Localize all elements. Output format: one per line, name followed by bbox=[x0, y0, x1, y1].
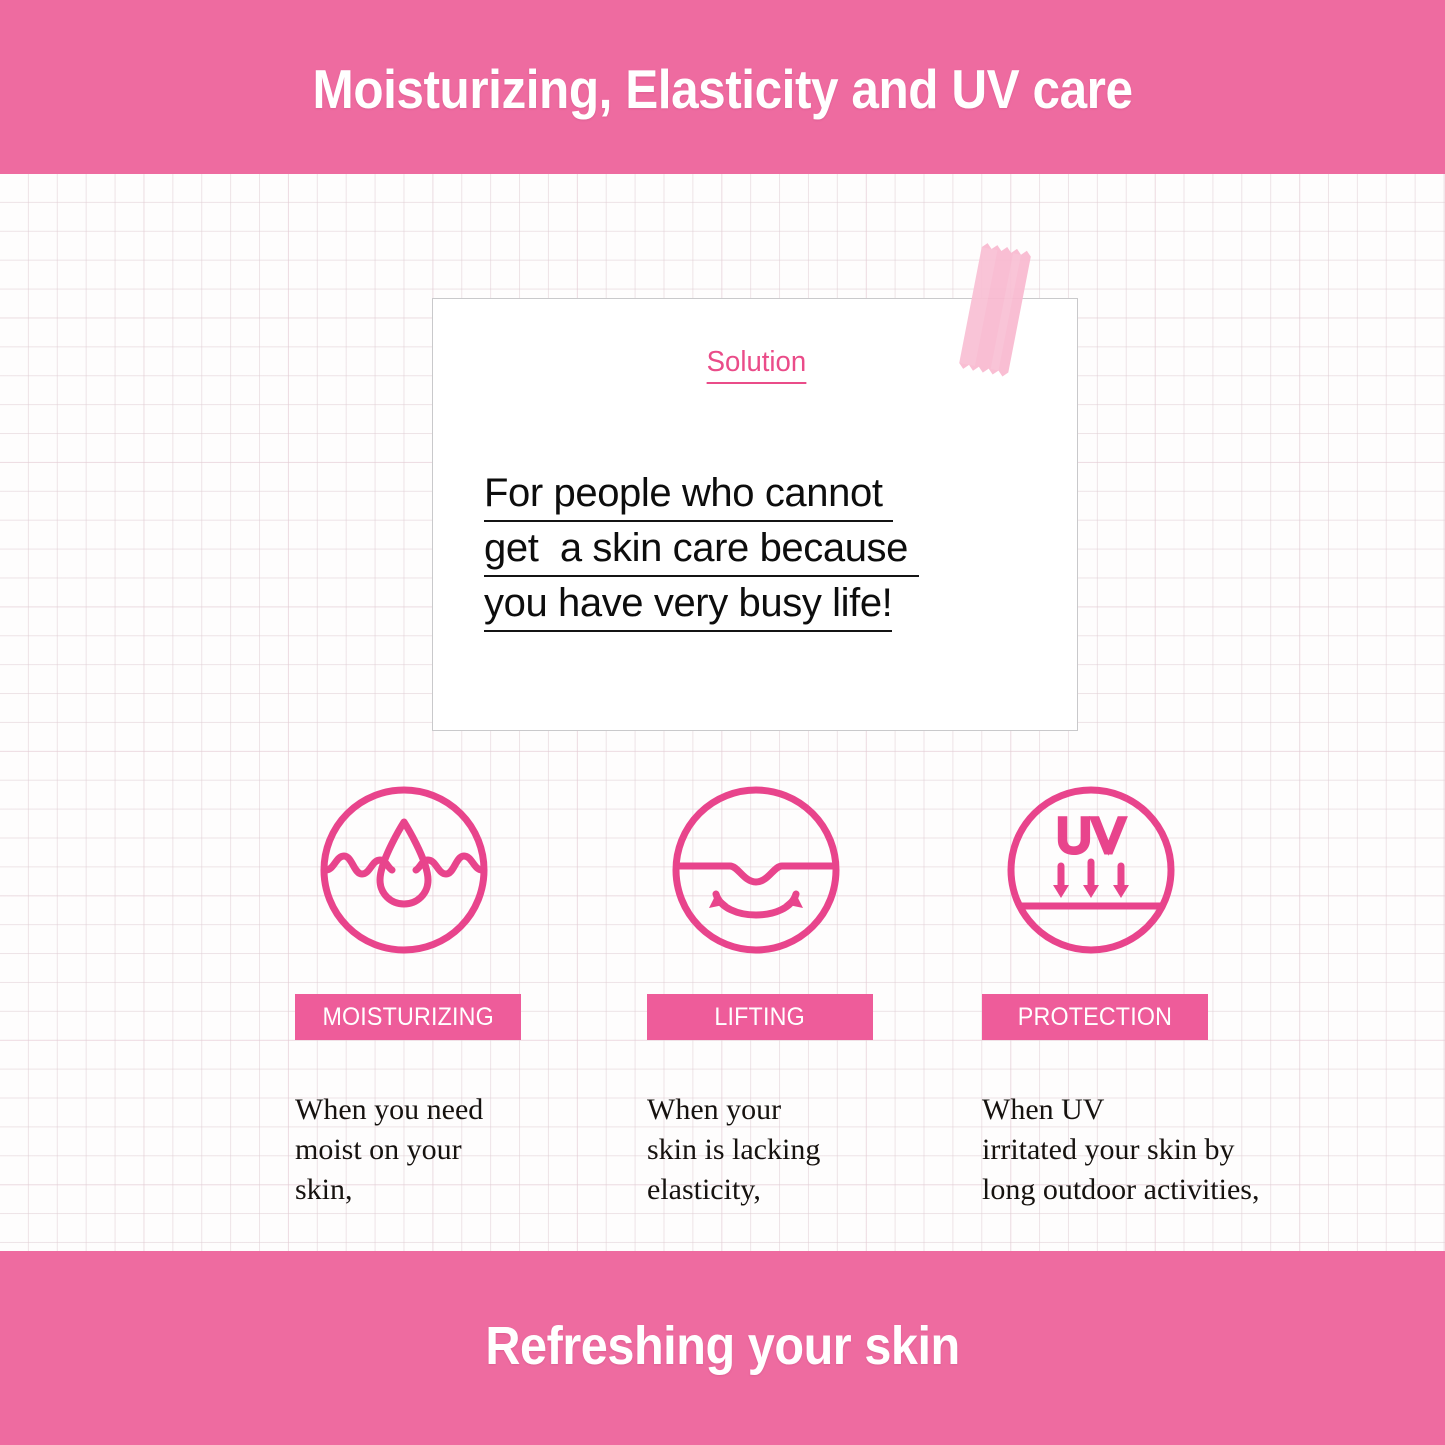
label-text-protection: PROTECTION bbox=[1018, 1003, 1172, 1031]
solution-card: Solution For people who cannot get a ski… bbox=[432, 298, 1078, 731]
label-bar-moisturizing: MOISTURIZING bbox=[295, 994, 521, 1040]
bottom-banner: Refreshing your skin bbox=[0, 1251, 1445, 1445]
features-row: MOISTURIZING When you need moist on your… bbox=[0, 782, 1445, 1232]
caption-moisturizing: When you need moist on your skin, bbox=[295, 1090, 595, 1210]
solution-body: For people who cannot get a skin care be… bbox=[484, 467, 1044, 632]
caption-lifting: When your skin is lacking elasticity, bbox=[647, 1090, 947, 1210]
label-bar-protection: PROTECTION bbox=[982, 994, 1208, 1040]
page-title: Moisturizing, Elasticity and UV care bbox=[312, 59, 1132, 119]
face-lifting-smile-icon bbox=[668, 782, 844, 958]
solution-title-wrap: Solution bbox=[433, 346, 1079, 384]
label-bar-lifting: LIFTING bbox=[647, 994, 873, 1040]
label-text-lifting: LIFTING bbox=[715, 1003, 805, 1031]
label-text-moisturizing: MOISTURIZING bbox=[322, 1003, 493, 1031]
solution-body-line-3: you have very busy life! bbox=[484, 577, 892, 632]
footer-title: Refreshing your skin bbox=[485, 1317, 959, 1375]
solution-title: Solution bbox=[706, 346, 806, 384]
water-drop-moisture-icon bbox=[316, 782, 492, 958]
solution-body-line-1: For people who cannot bbox=[484, 467, 893, 522]
uv-protection-icon: UV bbox=[1003, 782, 1179, 958]
promo-infographic: Moisturizing, Elasticity and UV care Sol… bbox=[0, 0, 1445, 1445]
solution-body-line-2: get a skin care because bbox=[484, 522, 919, 577]
top-banner: Moisturizing, Elasticity and UV care bbox=[0, 0, 1445, 174]
caption-protection: When UV irritated your skin by long outd… bbox=[982, 1090, 1342, 1210]
svg-text:UV: UV bbox=[1057, 810, 1126, 863]
